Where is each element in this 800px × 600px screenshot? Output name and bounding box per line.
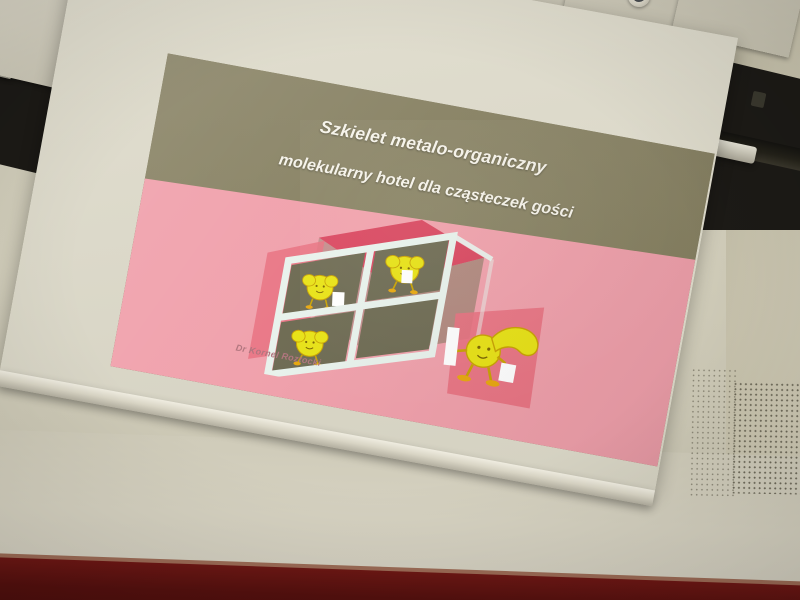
lecture-hall-photo: Szkielet metalo-organiczny molekularny h… xyxy=(0,0,800,600)
suitcase xyxy=(401,270,413,283)
suitcase xyxy=(498,363,516,383)
suitcase xyxy=(332,292,345,306)
perforated-acoustic-wall-panel xyxy=(731,381,800,494)
